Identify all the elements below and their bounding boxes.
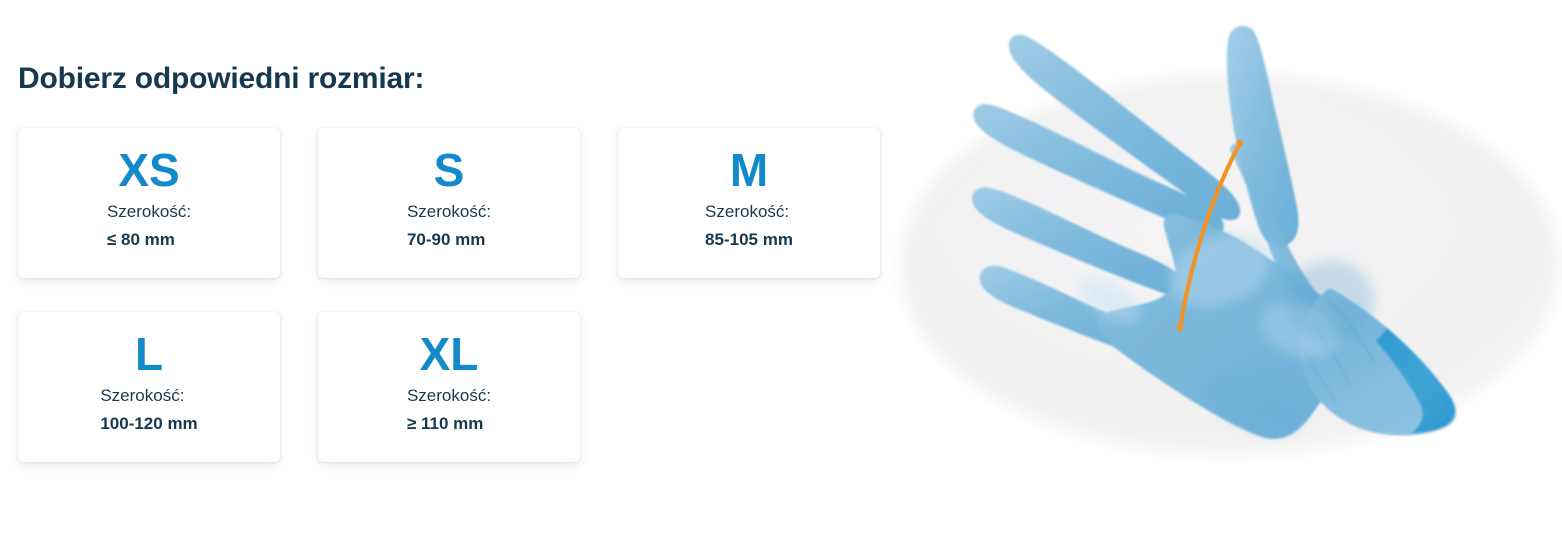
size-card-text-block: XL Szerokość: ≥ 110 mm [407,326,491,438]
size-spec-value-m: 85-105 mm [705,226,793,254]
size-card-xs[interactable]: XS Szerokość: ≤ 80 mm [18,128,280,278]
size-spec-value-xl: ≥ 110 mm [407,410,483,438]
size-card-content: XS Szerokość: ≤ 80 mm [18,128,280,278]
size-code-xl: XL [420,326,479,382]
size-spec-value-s: 70-90 mm [407,226,485,254]
size-spec-label-xl: Szerokość: [407,382,491,410]
size-card-xl[interactable]: XL Szerokość: ≥ 110 mm [318,312,580,462]
size-card-content: S Szerokość: 70-90 mm [318,128,580,278]
size-code-l: L [135,326,163,382]
size-card-content: XL Szerokość: ≥ 110 mm [318,312,580,462]
size-guide-page: Dobierz odpowiedni rozmiar: XS Szerokość… [0,0,1562,551]
size-spec-value-xs: ≤ 80 mm [107,226,175,254]
size-card-l[interactable]: L Szerokość: 100-120 mm [18,312,280,462]
size-spec-value-l: 100-120 mm [100,410,197,438]
size-spec-label-m: Szerokość: [705,198,789,226]
size-card-m[interactable]: M Szerokość: 85-105 mm [618,128,880,278]
size-card-text-block: S Szerokość: 70-90 mm [407,142,491,254]
glove-illustration [860,0,1562,551]
size-card-grid: XS Szerokość: ≤ 80 mm S Szerokość: 70-90… [18,128,882,462]
size-card-text-block: XS Szerokość: ≤ 80 mm [107,142,191,254]
size-spec-label-l: Szerokość: [100,382,184,410]
size-card-content: M Szerokość: 85-105 mm [618,128,880,278]
page-title: Dobierz odpowiedni rozmiar: [18,58,424,100]
size-spec-label-s: Szerokość: [407,198,491,226]
size-card-text-block: L Szerokość: 100-120 mm [100,326,197,438]
size-spec-label-xs: Szerokość: [107,198,191,226]
size-code-s: S [434,142,465,198]
size-card-content: L Szerokość: 100-120 mm [18,312,280,462]
glove-photo-svg [860,0,1562,551]
size-code-m: M [730,142,768,198]
size-card-text-block: M Szerokość: 85-105 mm [705,142,793,254]
size-card-s[interactable]: S Szerokość: 70-90 mm [318,128,580,278]
size-code-xs: XS [118,142,179,198]
size-guide-left-pane: Dobierz odpowiedni rozmiar: XS Szerokość… [0,0,900,551]
